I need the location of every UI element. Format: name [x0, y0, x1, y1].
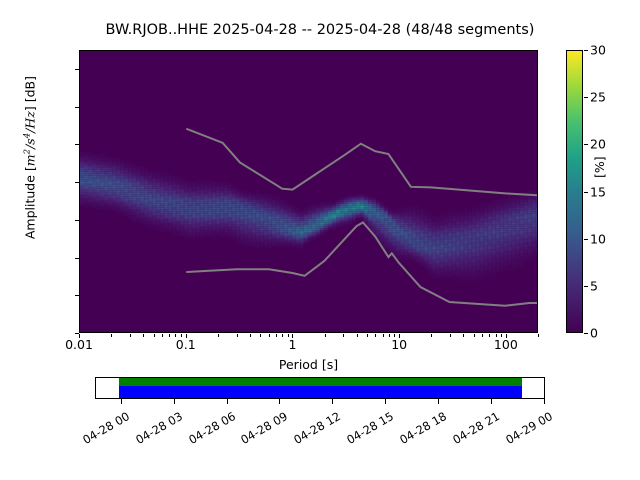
- x-axis-minor-tick-mark: [269, 334, 270, 337]
- figure-title: BW.RJOB..HHE 2025-04-28 -- 2025-04-28 (4…: [0, 22, 640, 38]
- x-axis-minor-tick-mark: [250, 334, 251, 337]
- timeline-tick-mark: [332, 399, 333, 404]
- colorbar-tick-label: 10: [590, 231, 606, 246]
- x-axis-minor-tick-mark: [169, 334, 170, 337]
- timeline-tick-mark: [438, 399, 439, 404]
- colorbar-tick-mark: [584, 192, 588, 193]
- x-axis-minor-tick-mark: [375, 334, 376, 337]
- timeline-tick-mark: [544, 399, 545, 404]
- colorbar-tick-label: 20: [590, 137, 606, 152]
- timeline-tick-mark: [121, 399, 122, 404]
- x-axis-minor-tick-mark: [282, 334, 283, 337]
- nhnm-curve: [186, 129, 537, 195]
- x-axis-minor-tick-mark: [276, 334, 277, 337]
- timeline-tick-mark: [174, 399, 175, 404]
- colorbar-tick-label: 25: [590, 90, 606, 105]
- y-axis-unit-mid-exp: 4: [22, 133, 32, 138]
- x-axis-minor-tick-mark: [130, 334, 131, 337]
- x-axis-tick-label: 10: [391, 337, 407, 352]
- colorbar-tick-label: 30: [590, 43, 606, 58]
- y-axis-unit-end: /Hz: [23, 111, 38, 133]
- colorbar-tick-label: 0: [590, 326, 598, 341]
- data-coverage-green[interactable]: [119, 378, 522, 386]
- x-axis-minor-tick-mark: [260, 334, 261, 337]
- x-axis-minor-tick-mark: [538, 334, 539, 337]
- y-axis-tick-mark: [75, 295, 79, 296]
- colorbar-tick-label: 5: [590, 278, 598, 293]
- y-axis-label-prefix: Amplitude [: [23, 166, 38, 239]
- x-axis-minor-tick-mark: [237, 334, 238, 337]
- x-axis-label: Period [s]: [79, 357, 538, 372]
- nlnm-curve: [186, 222, 537, 305]
- x-axis-tick-label: 1: [288, 337, 296, 352]
- x-axis-minor-tick-mark: [482, 334, 483, 337]
- data-coverage-blue[interactable]: [119, 386, 522, 397]
- y-axis-tick-mark: [75, 107, 79, 108]
- colorbar[interactable]: [566, 50, 583, 333]
- x-axis-tick-label: 0.01: [65, 337, 93, 352]
- x-axis-minor-tick-mark: [474, 334, 475, 337]
- x-axis-minor-tick-mark: [367, 334, 368, 337]
- x-axis-minor-tick-mark: [162, 334, 163, 337]
- ppsd-figure: BW.RJOB..HHE 2025-04-28 -- 2025-04-28 (4…: [0, 0, 640, 480]
- x-axis-minor-tick-mark: [463, 334, 464, 337]
- x-axis-minor-tick-mark: [143, 334, 144, 337]
- data-coverage-timeline[interactable]: [95, 377, 545, 399]
- y-axis-tick-mark: [75, 258, 79, 259]
- colorbar-tick-mark: [584, 333, 588, 334]
- x-axis-minor-tick-mark: [450, 334, 451, 337]
- x-axis-minor-tick-mark: [383, 334, 384, 337]
- x-axis-minor-tick-mark: [357, 334, 358, 337]
- colorbar-tick-mark: [584, 97, 588, 98]
- timeline-tick-mark: [279, 399, 280, 404]
- x-axis-minor-tick-mark: [111, 334, 112, 337]
- y-axis-unit-mid: /s: [23, 138, 38, 149]
- noise-model-layer: [80, 51, 537, 332]
- y-axis-label: Amplitude [m2/s4/Hz] [dB]: [22, 18, 37, 298]
- x-axis-minor-tick-mark: [343, 334, 344, 337]
- y-axis-tick-mark: [75, 220, 79, 221]
- x-axis-minor-tick-mark: [489, 334, 490, 337]
- x-axis-tick-label: 0.1: [176, 337, 196, 352]
- timeline-tick-mark: [491, 399, 492, 404]
- colorbar-tick-mark: [584, 50, 588, 51]
- colorbar-tick-mark: [584, 286, 588, 287]
- colorbar-tick-mark: [584, 144, 588, 145]
- colorbar-tick-label: 15: [590, 184, 606, 199]
- x-axis-tick-label: 100: [494, 337, 518, 352]
- y-axis-unit-numerator: m: [23, 154, 38, 166]
- x-axis-minor-tick-mark: [431, 334, 432, 337]
- timeline-tick-mark: [227, 399, 228, 404]
- y-axis-tick-mark: [75, 69, 79, 70]
- y-axis-tick-mark: [75, 182, 79, 183]
- ppsd-plot-area[interactable]: [79, 50, 538, 333]
- y-axis-tick-mark: [75, 144, 79, 145]
- y-axis-label-suffix: ] [dB]: [23, 76, 38, 111]
- y-axis-unit-numerator-exp: 2: [22, 149, 32, 154]
- timeline-tick-mark: [385, 399, 386, 404]
- colorbar-label: [%]: [592, 156, 607, 178]
- colorbar-tick-mark: [584, 239, 588, 240]
- x-axis-minor-tick-mark: [154, 334, 155, 337]
- x-axis-minor-tick-mark: [218, 334, 219, 337]
- x-axis-minor-tick-mark: [325, 334, 326, 337]
- x-axis-minor-tick-mark: [389, 334, 390, 337]
